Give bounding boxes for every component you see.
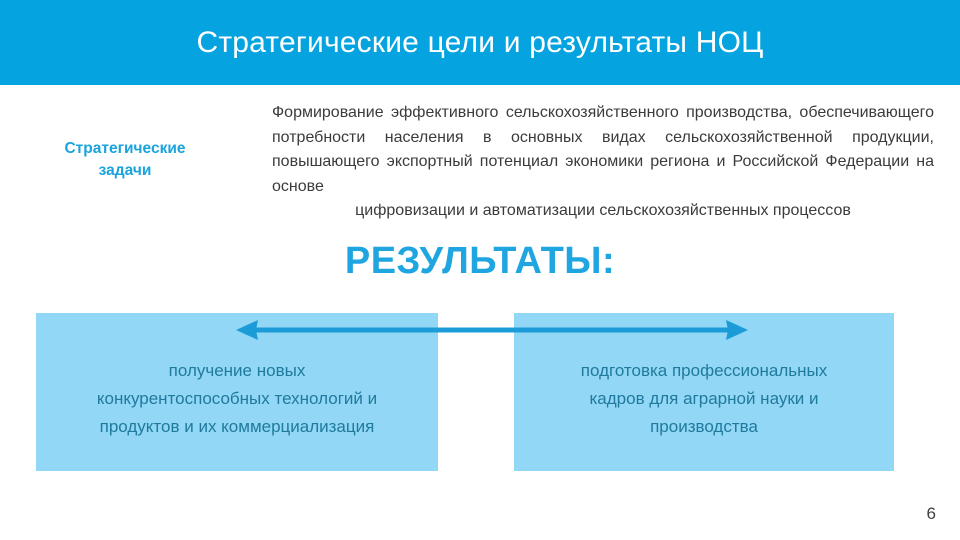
goal-paragraph-last-line: цифровизации и автоматизации сельскохозя… bbox=[272, 199, 934, 224]
result-box-left-text: получение новых конкурентоспособных техн… bbox=[36, 357, 438, 441]
result-right-line-3: производства bbox=[520, 413, 888, 441]
side-label-line-1: Стратегические bbox=[64, 140, 185, 157]
page-title: Стратегические цели и результаты НОЦ bbox=[196, 26, 763, 60]
goal-paragraph: Формирование эффективного сельскохозяйст… bbox=[272, 101, 934, 224]
result-box-right: подготовка профессиональных кадров для а… bbox=[514, 313, 894, 471]
page-number: 6 bbox=[927, 504, 936, 524]
slide: Стратегические цели и результаты НОЦ Стр… bbox=[0, 0, 960, 540]
result-left-line-2: конкурентоспособных технологий и bbox=[42, 385, 432, 413]
header-band: Стратегические цели и результаты НОЦ bbox=[0, 0, 960, 85]
results-heading: РЕЗУЛЬТАТЫ: bbox=[0, 240, 960, 283]
result-box-left: получение новых конкурентоспособных техн… bbox=[36, 313, 438, 471]
side-label-line-2: задачи bbox=[14, 160, 236, 182]
result-left-line-3: продуктов и их коммерциализация bbox=[42, 413, 432, 441]
goal-paragraph-body: Формирование эффективного сельскохозяйст… bbox=[272, 104, 934, 195]
result-right-line-2: кадров для аграрной науки и bbox=[520, 385, 888, 413]
side-label-strategic-tasks: Стратегические задачи bbox=[14, 138, 236, 182]
result-left-line-1: получение новых bbox=[42, 357, 432, 385]
result-right-line-1: подготовка профессиональных bbox=[520, 357, 888, 385]
result-box-right-text: подготовка профессиональных кадров для а… bbox=[514, 357, 894, 441]
